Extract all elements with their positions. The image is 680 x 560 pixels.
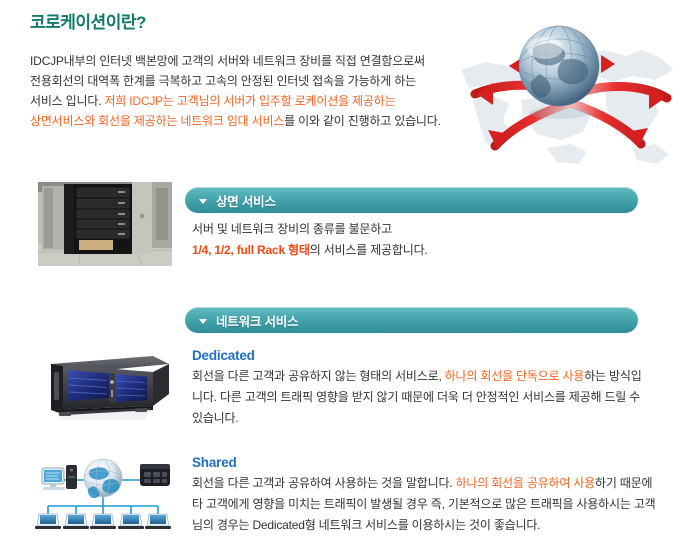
section-header-colocation[interactable]: 상면 서비스 [185, 187, 638, 213]
server-rack-photo [38, 182, 172, 266]
intro-line-1: IDCJP내부의 인터넷 백본망에 고객의 서버와 네트워크 장비를 직접 연결… [30, 54, 425, 68]
shared-para-highlight: 하나의 회선을 공유하여 사용 [456, 476, 595, 490]
chevron-down-icon [199, 199, 207, 204]
laptop-row [35, 514, 171, 529]
intro-line-4-highlight: 상면서비스와 회선을 제공하는 네트워크 임대 서비스 [30, 114, 284, 128]
page-root: 코로케이션이란? IDCJP내부의 인터넷 백본망에 고객의 서버와 네트워크 … [0, 0, 680, 560]
intro-paragraph: IDCJP내부의 인터넷 백본망에 고객의 서버와 네트워크 장비를 직접 연결… [30, 51, 480, 131]
intro-line-2: 전용회선의 대역폭 한계를 극복하고 고속의 안정된 인터넷 접속을 가능하게 … [30, 74, 416, 88]
section-header-network-label: 네트워크 서비스 [216, 311, 298, 330]
dedicated-para-highlight: 하나의 회선을 단독으로 사용 [445, 369, 584, 383]
dedicated-heading: Dedicated [192, 347, 647, 365]
page-title: 코로케이션이란? [30, 14, 480, 33]
shared-heading: Shared [192, 454, 662, 472]
rackmount-server-photo [35, 348, 175, 422]
colocation-line-1: 서버 및 네트워크 장비의 종류를 불문하고 [192, 222, 392, 236]
section-body-dedicated: Dedicated 회선을 다른 고객과 공유하지 않는 형태의 서비스로, 하… [192, 347, 647, 429]
section-body-shared: Shared 회선을 다른 고객과 공유하여 사용하는 것을 말합니다. 하나의… [192, 454, 662, 536]
section-header-network[interactable]: 네트워크 서비스 [185, 307, 638, 333]
globe-artwork [455, 8, 680, 173]
intro-block: 코로케이션이란? IDCJP내부의 인터넷 백본망에 고객의 서버와 네트워크 … [30, 14, 480, 131]
dedicated-para-a: 회선을 다른 고객과 공유하지 않는 형태의 서비스로, [192, 369, 445, 383]
network-switch-icon [140, 464, 170, 486]
section-body-colocation: 서버 및 네트워크 장비의 종류를 불문하고 1/4, 1/2, full Ra… [192, 219, 632, 261]
network-diagram-photo [28, 450, 178, 532]
shared-para-a: 회선을 다른 고객과 공유하여 사용하는 것을 말합니다. [192, 476, 456, 490]
colocation-line-2-plain: 의 서비스를 제공합니다. [310, 243, 428, 257]
intro-line-4-plain: 를 이와 같이 진행하고 있습니다. [284, 114, 441, 128]
section-header-colocation-label: 상면 서비스 [216, 191, 276, 210]
colocation-rack-highlight: 1/4, 1/2, full Rack 형태 [192, 243, 310, 257]
chevron-down-icon [199, 319, 207, 324]
intro-line-3-highlight: 저희 IDCJP는 고객님의 서버가 입주할 로케이션을 제공하는 [104, 94, 395, 108]
intro-line-3-plain: 서비스 입니다. [30, 94, 104, 108]
